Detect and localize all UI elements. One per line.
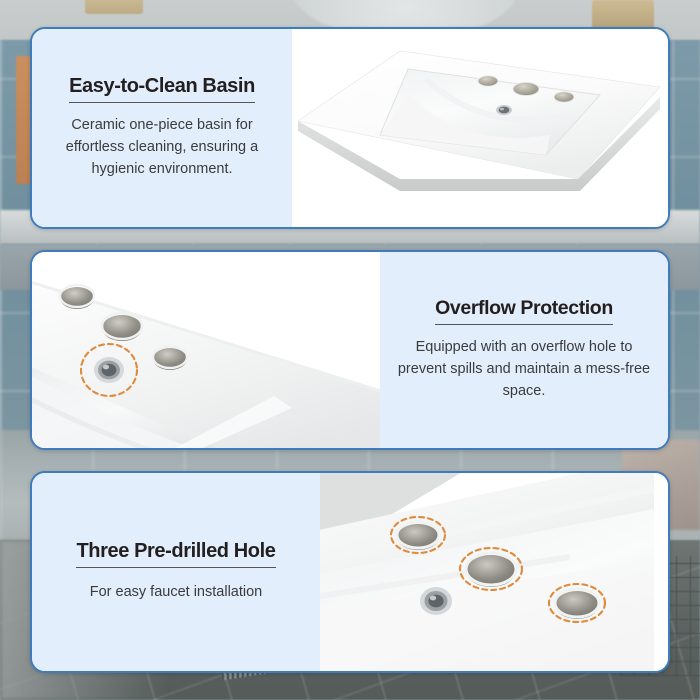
faucet-hole-right (153, 348, 187, 370)
sink-predrilled-holes-illustration (320, 473, 654, 671)
background-brass-fixture-2 (85, 0, 143, 14)
faucet-hole-center (466, 555, 516, 587)
feature-body: Ceramic one-piece basin for effortless c… (46, 115, 278, 180)
faucet-hole-left (397, 524, 439, 550)
feature-image-pane (320, 473, 668, 671)
feature-text-pane: Easy-to-Clean Basin Ceramic one-piece ba… (32, 29, 292, 227)
feature-card-overflow-protection: Overflow Protection Equipped with an ove… (30, 250, 670, 450)
feature-image-pane (32, 252, 380, 448)
feature-body: Equipped with an overflow hole to preven… (397, 337, 652, 402)
background-brass-fixture (592, 0, 654, 30)
faucet-hole-right (555, 591, 599, 619)
feature-heading: Three Pre-drilled Hole (76, 540, 275, 568)
feature-body: For easy faucet installation (90, 582, 262, 604)
feature-text-pane: Three Pre-drilled Hole For easy faucet i… (32, 473, 320, 671)
feature-card-three-pre-drilled-hole: Three Pre-drilled Hole For easy faucet i… (30, 471, 670, 673)
sink-full-view-illustration (292, 31, 668, 227)
feature-heading: Easy-to-Clean Basin (69, 75, 255, 103)
feature-heading: Overflow Protection (435, 297, 613, 325)
feature-text-pane: Overflow Protection Equipped with an ove… (380, 252, 668, 448)
faucet-hole-left (60, 287, 94, 309)
feature-card-easy-to-clean-basin: Easy-to-Clean Basin Ceramic one-piece ba… (30, 27, 670, 229)
sink-overflow-closeup-illustration (32, 252, 380, 448)
faucet-hole-center (102, 315, 142, 341)
feature-image-pane (292, 29, 668, 227)
